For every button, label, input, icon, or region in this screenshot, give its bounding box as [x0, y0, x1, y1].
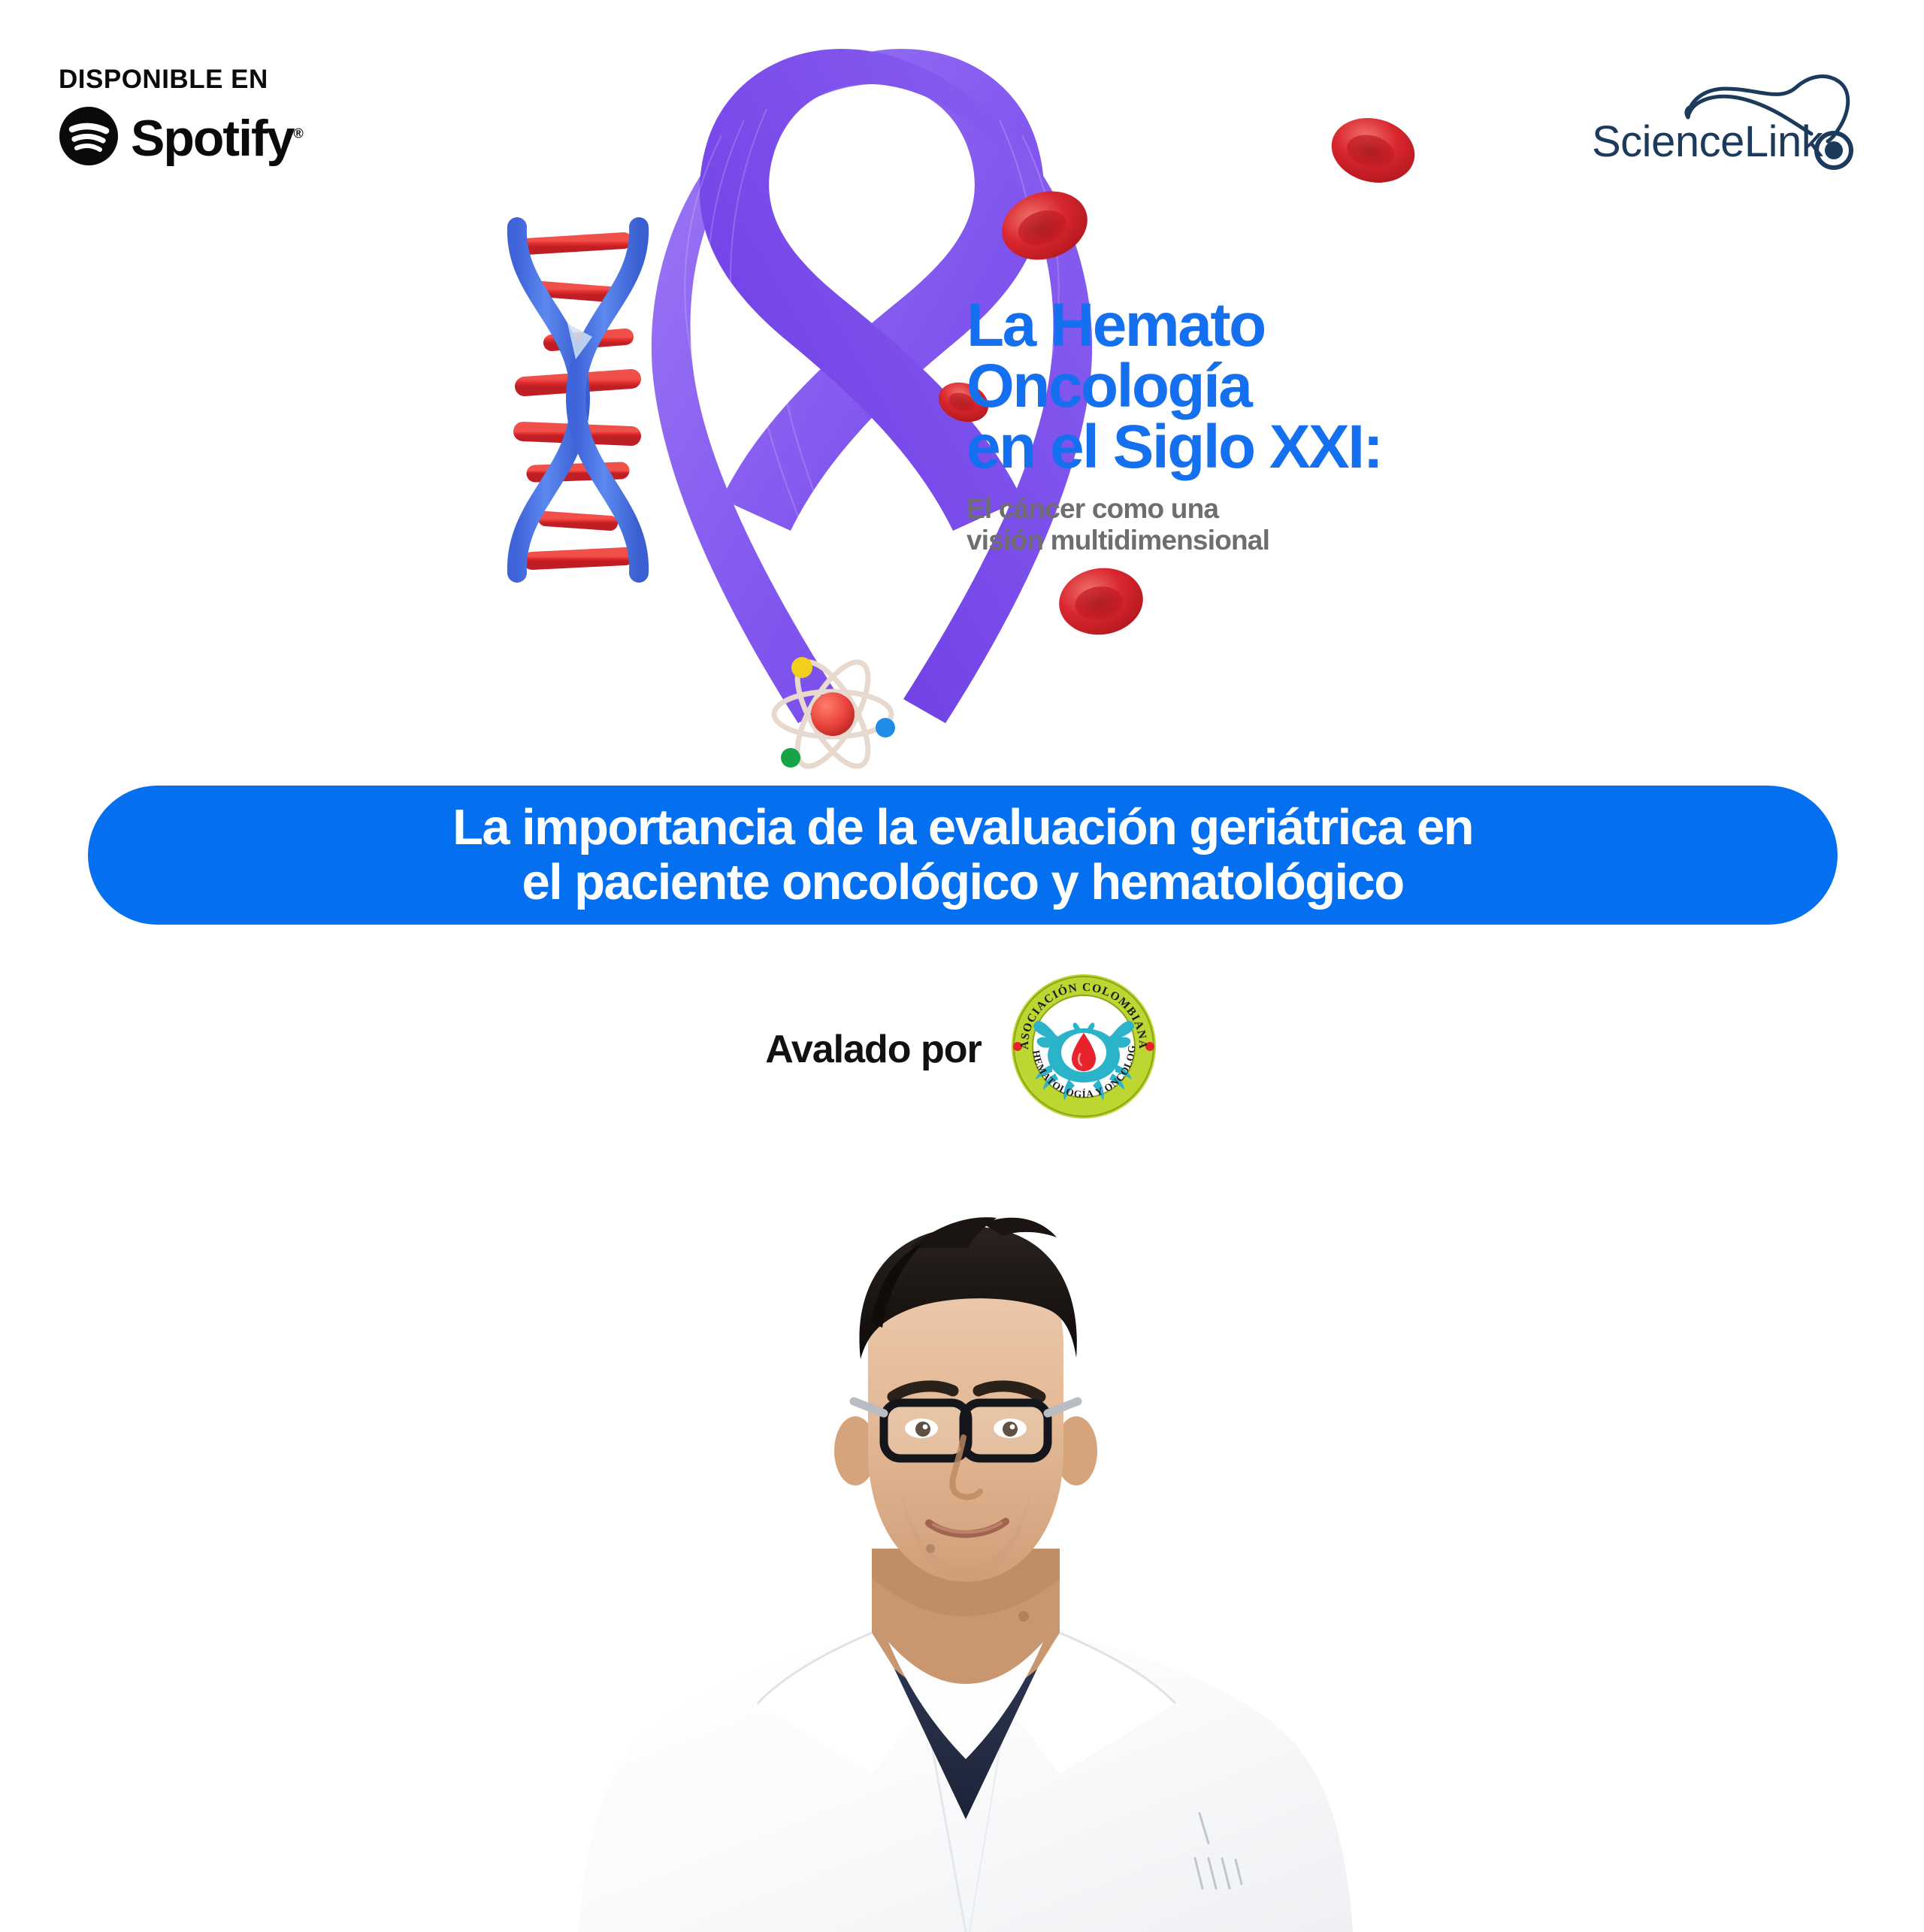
topic-banner-text: La importancia de la evaluación geriátri… [452, 801, 1473, 910]
atom-icon [774, 652, 895, 776]
dna-helix-icon [517, 227, 639, 573]
event-subtitle: El cáncer como una visión multidimension… [967, 493, 1508, 557]
topic-banner: La importancia de la evaluación geriátri… [88, 786, 1838, 925]
spotify-lockup: Spotify® [59, 106, 329, 170]
spotify-availability-badge[interactable]: DISPONIBLE EN Spotify® [59, 66, 329, 170]
spotify-available-label: DISPONIBLE EN [59, 66, 329, 92]
sciencelink-wordmark: ScienceLink [1592, 120, 1823, 164]
eyeglasses-icon [854, 1401, 1078, 1458]
event-title-block: La Hemato Oncología en el Siglo XXI: El … [967, 295, 1508, 557]
spotify-trademark-symbol: ® [293, 126, 303, 141]
spotify-wordmark: Spotify® [131, 113, 304, 164]
speaker-portrait [519, 1098, 1413, 1932]
endorsed-by-label: Avalado por [765, 1030, 982, 1069]
event-title-line-1: La Hemato [967, 295, 1508, 356]
spotify-wordmark-text: Spotify [131, 110, 293, 167]
event-title-line-3: en el Siglo XXI: [967, 416, 1508, 477]
event-title-line-2: Oncología [967, 356, 1508, 416]
spotify-icon [59, 106, 119, 170]
sciencelink-logo[interactable]: ScienceLink [1563, 59, 1879, 190]
